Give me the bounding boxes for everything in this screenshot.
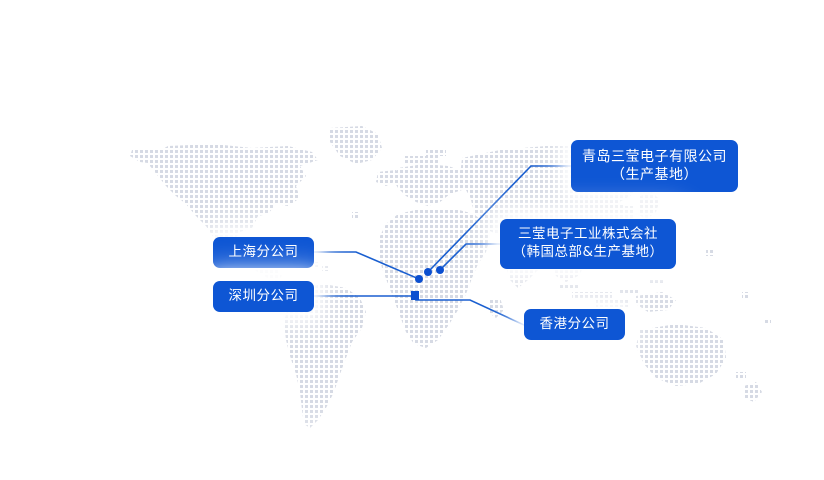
world-office-map: 青岛三莹电子有限公司 （生产基地） 三莹电子工业株式会社 （韩国总部&生产基地）… [0, 0, 824, 480]
label-korea-line1: 三莹电子工业株式会社 [518, 226, 658, 244]
label-shenzhen[interactable]: 深圳分公司 [213, 281, 314, 312]
label-qingdao-line1: 青岛三莹电子有限公司 [582, 148, 727, 166]
label-qingdao-line2: （生产基地） [611, 166, 698, 184]
label-hongkong-line1: 香港分公司 [540, 316, 610, 334]
label-hongkong[interactable]: 香港分公司 [524, 309, 625, 340]
label-korea-hq[interactable]: 三莹电子工业株式会社 （韩国总部&生产基地） [500, 219, 676, 269]
world-dot-map [0, 0, 824, 480]
label-shenzhen-line1: 深圳分公司 [229, 288, 299, 306]
label-korea-line2: （韩国总部&生产基地） [512, 244, 663, 262]
label-qingdao[interactable]: 青岛三莹电子有限公司 （生产基地） [571, 140, 738, 192]
label-shanghai-line1: 上海分公司 [229, 244, 299, 262]
label-shanghai[interactable]: 上海分公司 [213, 237, 314, 268]
